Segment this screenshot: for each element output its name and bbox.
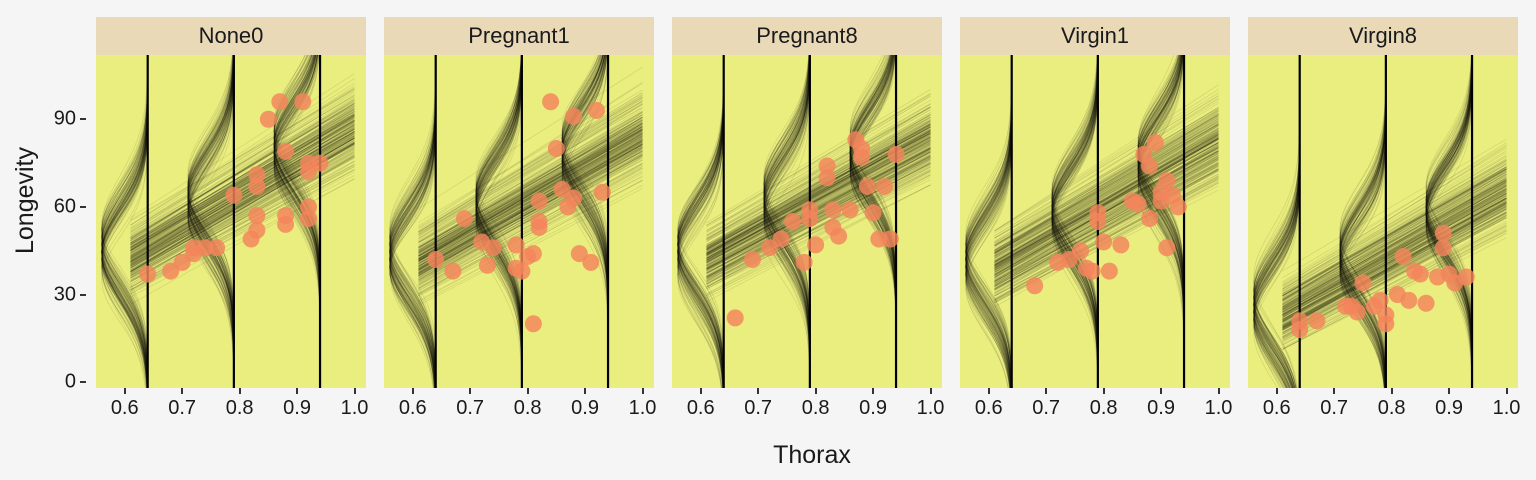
x-tick-mark	[988, 388, 990, 394]
data-point	[1158, 172, 1175, 189]
data-point	[277, 143, 294, 160]
x-tick-mark	[296, 388, 298, 394]
y-tick-label: 0	[65, 371, 76, 394]
data-point	[1026, 277, 1043, 294]
x-tick-label: 1.0	[341, 397, 369, 420]
data-point	[1112, 236, 1129, 253]
posterior-overlay	[96, 55, 366, 388]
x-tick-label: 0.7	[1320, 397, 1348, 420]
x-tick-mark	[1506, 388, 1508, 394]
data-point	[1084, 263, 1101, 280]
x-tick-label: 0.9	[571, 397, 599, 420]
data-point	[1377, 315, 1394, 332]
data-point	[485, 239, 502, 256]
x-tick-mark	[642, 388, 644, 394]
facet-panel: Pregnant8	[672, 17, 942, 388]
facet-strip-label: Pregnant8	[672, 17, 942, 55]
x-tick-mark	[239, 388, 241, 394]
data-point	[882, 231, 899, 248]
x-tick-mark	[584, 388, 586, 394]
x-tick-label: 0.8	[226, 397, 254, 420]
data-point	[1308, 312, 1325, 329]
data-point	[243, 231, 260, 248]
data-point	[565, 190, 582, 207]
data-point	[1089, 213, 1106, 230]
x-tick-mark	[354, 388, 356, 394]
x-axis: 0.60.70.80.91.0	[1248, 388, 1518, 438]
data-point	[819, 169, 836, 186]
data-point	[1141, 210, 1158, 227]
x-tick-label: 0.6	[111, 397, 139, 420]
x-tick-label: 0.8	[1378, 397, 1406, 420]
data-point	[1158, 239, 1175, 256]
x-tick-label: 1.0	[1493, 397, 1521, 420]
x-tick-label: 0.9	[1147, 397, 1175, 420]
x-tick-mark	[1333, 388, 1335, 394]
data-point	[208, 239, 225, 256]
data-point	[1095, 233, 1112, 250]
data-point	[1147, 134, 1164, 151]
data-point	[277, 216, 294, 233]
x-tick-mark	[1103, 388, 1105, 394]
data-point	[594, 184, 611, 201]
data-point	[513, 263, 530, 280]
data-point	[271, 93, 288, 110]
y-tick-label: 90	[54, 108, 76, 131]
x-tick-label: 0.6	[687, 397, 715, 420]
plot-area	[96, 55, 366, 388]
data-point	[1412, 266, 1429, 283]
x-tick-mark	[1160, 388, 1162, 394]
x-tick-mark	[527, 388, 529, 394]
x-axis: 0.60.70.80.91.0	[960, 388, 1230, 438]
x-axis: 0.60.70.80.91.0	[96, 388, 366, 438]
data-point	[248, 178, 265, 195]
y-axis-ticks: 0306090	[0, 0, 76, 480]
data-point	[1349, 304, 1366, 321]
x-axis-title: Thorax	[96, 438, 1528, 472]
facet-panel: Pregnant1	[384, 17, 654, 388]
data-point	[1141, 158, 1158, 175]
data-point	[565, 108, 582, 125]
data-point	[174, 254, 191, 271]
data-point	[801, 210, 818, 227]
data-point	[796, 254, 813, 271]
posterior-overlay	[1248, 55, 1518, 388]
posterior-overlay	[960, 55, 1230, 388]
x-tick-label: 0.6	[1263, 397, 1291, 420]
x-tick-label: 1.0	[917, 397, 945, 420]
data-point	[784, 213, 801, 230]
x-tick-mark	[700, 388, 702, 394]
x-tick-label: 0.8	[514, 397, 542, 420]
x-tick-label: 0.8	[1090, 397, 1118, 420]
data-point	[479, 257, 496, 274]
data-point	[531, 219, 548, 236]
data-point	[1418, 295, 1435, 312]
data-point	[582, 254, 599, 271]
x-tick-mark	[815, 388, 817, 394]
data-point	[830, 228, 847, 245]
x-tick-label: 0.8	[802, 397, 830, 420]
x-tick-mark	[872, 388, 874, 394]
data-point	[744, 251, 761, 268]
plot-area	[1248, 55, 1518, 388]
data-point	[588, 102, 605, 119]
x-tick-label: 1.0	[629, 397, 657, 420]
data-point	[1130, 195, 1147, 212]
x-tick-mark	[1448, 388, 1450, 394]
x-axis: 0.60.70.80.91.0	[384, 388, 654, 438]
facet-strip-label: None0	[96, 17, 366, 55]
facet-strip-label: Pregnant1	[384, 17, 654, 55]
plot-area	[384, 55, 654, 388]
x-tick-mark	[124, 388, 126, 394]
x-tick-label: 0.9	[859, 397, 887, 420]
x-tick-mark	[1218, 388, 1220, 394]
posterior-overlay	[384, 55, 654, 388]
data-point	[444, 263, 461, 280]
data-point	[1291, 321, 1308, 338]
plot-area	[960, 55, 1230, 388]
data-point	[139, 266, 156, 283]
data-point	[548, 140, 565, 157]
data-point	[1435, 225, 1452, 242]
facet-panel: None0	[96, 17, 366, 388]
y-tick-mark	[80, 206, 86, 208]
facet-panel: Virgin8	[1248, 17, 1518, 388]
x-tick-label: 0.7	[744, 397, 772, 420]
y-tick-mark	[80, 118, 86, 120]
data-point	[842, 201, 859, 218]
facet-panel: Virgin1	[960, 17, 1230, 388]
data-point	[859, 178, 876, 195]
data-point	[248, 207, 265, 224]
x-tick-mark	[757, 388, 759, 394]
data-point	[525, 245, 542, 262]
data-point	[876, 178, 893, 195]
chart-root: Longevity 0306090 None0Pregnant1Pregnant…	[0, 0, 1536, 480]
y-tick-mark	[80, 381, 86, 383]
x-tick-mark	[930, 388, 932, 394]
x-tick-mark	[1391, 388, 1393, 394]
data-point	[1101, 263, 1118, 280]
x-tick-label: 1.0	[1205, 397, 1233, 420]
data-point	[853, 149, 870, 166]
data-point	[1170, 198, 1187, 215]
x-tick-mark	[469, 388, 471, 394]
data-point	[888, 146, 905, 163]
x-tick-mark	[412, 388, 414, 394]
data-point	[1354, 274, 1371, 291]
x-tick-label: 0.6	[399, 397, 427, 420]
x-tick-label: 0.9	[283, 397, 311, 420]
x-tick-mark	[1276, 388, 1278, 394]
y-tick-label: 30	[54, 283, 76, 306]
x-tick-label: 0.6	[975, 397, 1003, 420]
facet-strip-label: Virgin1	[960, 17, 1230, 55]
x-axis: 0.60.70.80.91.0	[672, 388, 942, 438]
x-tick-mark	[181, 388, 183, 394]
data-point	[456, 210, 473, 227]
data-point	[727, 309, 744, 326]
data-point	[542, 93, 559, 110]
data-point	[1072, 242, 1089, 259]
data-point	[531, 193, 548, 210]
data-point	[427, 251, 444, 268]
x-tick-label: 0.7	[456, 397, 484, 420]
data-point	[1435, 239, 1452, 256]
posterior-overlay	[672, 55, 942, 388]
y-tick-label: 60	[54, 195, 76, 218]
plot-area	[672, 55, 942, 388]
x-tick-label: 0.9	[1435, 397, 1463, 420]
y-tick-mark	[80, 294, 86, 296]
data-point	[1372, 292, 1389, 309]
facet-strip-label: Virgin8	[1248, 17, 1518, 55]
data-point	[1458, 269, 1475, 286]
data-point	[865, 204, 882, 221]
data-point	[225, 187, 242, 204]
data-point	[260, 111, 277, 128]
data-point	[294, 93, 311, 110]
data-point	[300, 210, 317, 227]
data-point	[807, 236, 824, 253]
data-point	[525, 315, 542, 332]
x-tick-label: 0.7	[1032, 397, 1060, 420]
data-point	[824, 201, 841, 218]
x-tick-mark	[1045, 388, 1047, 394]
data-point	[773, 231, 790, 248]
data-point	[312, 155, 329, 172]
data-point	[1395, 248, 1412, 265]
data-point	[1400, 292, 1417, 309]
x-tick-label: 0.7	[168, 397, 196, 420]
